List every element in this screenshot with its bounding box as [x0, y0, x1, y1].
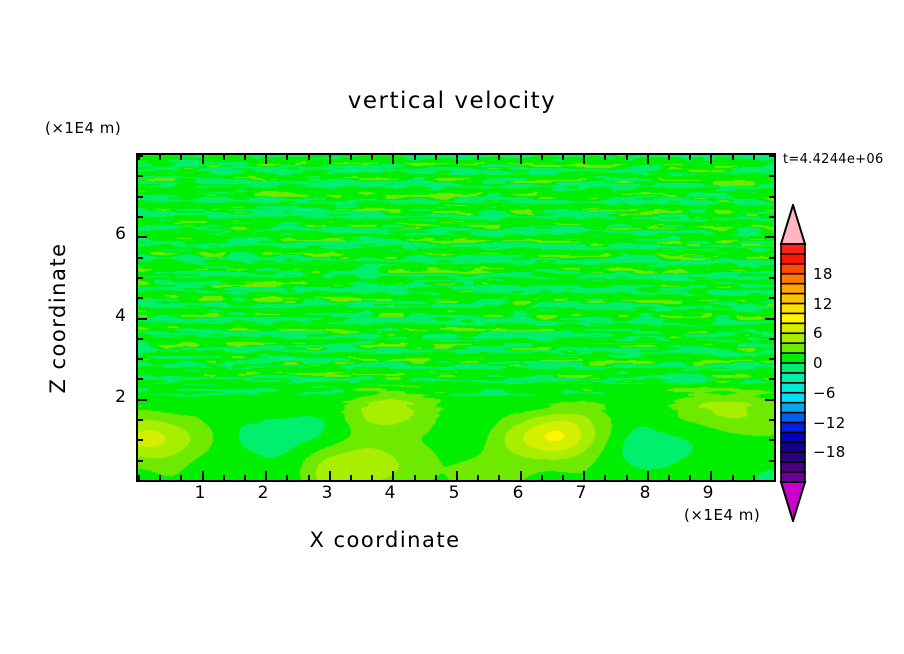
tick-mark [138, 277, 143, 279]
x-axis-title: X coordinate [0, 528, 770, 552]
tick-mark [456, 155, 458, 164]
tick-mark [138, 460, 143, 462]
colorbar-tick-label: 6 [813, 324, 823, 342]
tick-mark [753, 475, 755, 480]
time-stamp: t=4.4244e+06 [783, 152, 884, 167]
tick-mark [769, 439, 774, 441]
page-title: vertical velocity [0, 88, 904, 114]
colorbar-band [781, 323, 805, 333]
tick-mark [265, 155, 267, 164]
colorbar-band [781, 393, 805, 403]
colorbar-tick-label: 18 [813, 265, 833, 283]
y-tick-label: 2 [96, 387, 126, 407]
tick-mark [138, 439, 143, 441]
colorbar-band [781, 403, 805, 413]
colorbar-band [781, 452, 805, 462]
tick-mark [647, 471, 649, 480]
colorbar-tick-label: −18 [813, 443, 846, 461]
y-tick-label: 6 [96, 224, 126, 244]
tick-mark [769, 338, 774, 340]
x-tick-label: 4 [385, 483, 396, 503]
tick-mark [138, 378, 143, 380]
tick-mark [244, 155, 246, 160]
colorbar-over-arrow [781, 205, 805, 244]
tick-mark [562, 155, 564, 160]
tick-mark [732, 155, 734, 160]
tick-mark [138, 358, 143, 360]
colorbar-band [781, 353, 805, 363]
tick-mark [626, 155, 628, 160]
x-axis-unit-label: (×1E4 m) [684, 506, 760, 524]
tick-mark [265, 471, 267, 480]
tick-mark [769, 460, 774, 462]
colorbar [778, 204, 808, 522]
colorbar-band [781, 462, 805, 472]
tick-mark [604, 155, 606, 160]
tick-mark [769, 378, 774, 380]
tick-mark [159, 155, 161, 160]
tick-mark [392, 155, 394, 164]
tick-mark [244, 475, 246, 480]
tick-mark [138, 338, 143, 340]
x-tick-label: 9 [703, 483, 714, 503]
tick-mark [286, 475, 288, 480]
colorbar-band [781, 264, 805, 274]
tick-mark [765, 236, 774, 238]
tick-mark [138, 216, 143, 218]
x-tick-label: 8 [640, 483, 651, 503]
tick-mark [769, 216, 774, 218]
colorbar-band [781, 313, 805, 323]
tick-mark [435, 155, 437, 160]
tick-mark [414, 155, 416, 160]
tick-mark [498, 155, 500, 160]
tick-mark [668, 475, 670, 480]
tick-mark [138, 175, 143, 177]
tick-mark [138, 297, 143, 299]
tick-mark [477, 475, 479, 480]
colorbar-band [781, 423, 805, 433]
y-tick-label: 4 [96, 306, 126, 326]
colorbar-band [781, 432, 805, 442]
tick-mark [583, 155, 585, 164]
tick-mark [732, 475, 734, 480]
colorbar-band [781, 383, 805, 393]
tick-mark [180, 155, 182, 160]
tick-mark [774, 155, 776, 160]
tick-mark [159, 475, 161, 480]
colorbar-band [781, 284, 805, 294]
contour-field [138, 155, 774, 480]
contour-plot-figure: vertical velocity (×1E4 m) (×1E4 m) X co… [0, 0, 904, 654]
colorbar-band [781, 363, 805, 373]
z-axis-title: Z coordinate [46, 218, 70, 418]
tick-mark [765, 399, 774, 401]
tick-mark [138, 196, 143, 198]
tick-mark [371, 155, 373, 160]
tick-mark [769, 155, 774, 157]
tick-mark [541, 155, 543, 160]
tick-mark [138, 318, 147, 320]
tick-mark [769, 196, 774, 198]
tick-mark [180, 475, 182, 480]
colorbar-band [781, 442, 805, 452]
tick-mark [350, 475, 352, 480]
tick-mark [769, 480, 774, 482]
colorbar-band [781, 413, 805, 423]
tick-mark [371, 475, 373, 480]
colorbar-tick-label: 0 [813, 354, 823, 372]
tick-mark [456, 471, 458, 480]
tick-mark [765, 318, 774, 320]
tick-mark [414, 475, 416, 480]
colorbar-band [781, 244, 805, 254]
tick-mark [138, 399, 147, 401]
tick-mark [668, 155, 670, 160]
tick-mark [138, 155, 143, 157]
colorbar-band [781, 333, 805, 343]
tick-mark [604, 475, 606, 480]
colorbar-band [781, 254, 805, 264]
tick-mark [769, 419, 774, 421]
tick-mark [774, 475, 776, 480]
colorbar-under-arrow [781, 482, 805, 521]
tick-mark [710, 155, 712, 164]
tick-mark [138, 419, 143, 421]
x-tick-label: 5 [449, 483, 460, 503]
tick-mark [435, 475, 437, 480]
tick-mark [769, 358, 774, 360]
tick-mark [329, 471, 331, 480]
colorbar-tick-label: −6 [813, 384, 836, 402]
tick-mark [223, 155, 225, 160]
tick-mark [138, 236, 147, 238]
colorbar-band [781, 343, 805, 353]
tick-mark [710, 471, 712, 480]
x-tick-label: 3 [322, 483, 333, 503]
tick-mark [308, 155, 310, 160]
tick-mark [350, 155, 352, 160]
tick-mark [286, 155, 288, 160]
x-tick-label: 7 [576, 483, 587, 503]
tick-mark [769, 175, 774, 177]
tick-mark [392, 471, 394, 480]
tick-mark [753, 155, 755, 160]
tick-mark [520, 471, 522, 480]
colorbar-band [781, 274, 805, 284]
x-tick-label: 1 [195, 483, 206, 503]
z-axis-unit-label: (×1E4 m) [45, 119, 121, 137]
colorbar-band [781, 294, 805, 304]
x-tick-label: 6 [513, 483, 524, 503]
tick-mark [562, 475, 564, 480]
tick-mark [223, 475, 225, 480]
tick-mark [138, 257, 143, 259]
x-tick-label: 2 [258, 483, 269, 503]
tick-mark [202, 155, 204, 164]
tick-mark [769, 277, 774, 279]
tick-mark [541, 475, 543, 480]
tick-mark [626, 475, 628, 480]
colorbar-band [781, 472, 805, 482]
tick-mark [498, 475, 500, 480]
tick-mark [329, 155, 331, 164]
colorbar-tick-label: −12 [813, 414, 846, 432]
plot-panel [136, 153, 776, 482]
colorbar-band [781, 373, 805, 383]
tick-mark [689, 475, 691, 480]
tick-mark [769, 257, 774, 259]
tick-mark [308, 475, 310, 480]
colorbar-band [781, 304, 805, 314]
tick-mark [477, 155, 479, 160]
tick-mark [583, 471, 585, 480]
tick-mark [689, 155, 691, 160]
tick-mark [647, 155, 649, 164]
tick-mark [138, 480, 143, 482]
colorbar-tick-label: 12 [813, 295, 833, 313]
tick-mark [520, 155, 522, 164]
tick-mark [202, 471, 204, 480]
tick-mark [769, 297, 774, 299]
colorbar-scale [778, 204, 808, 522]
